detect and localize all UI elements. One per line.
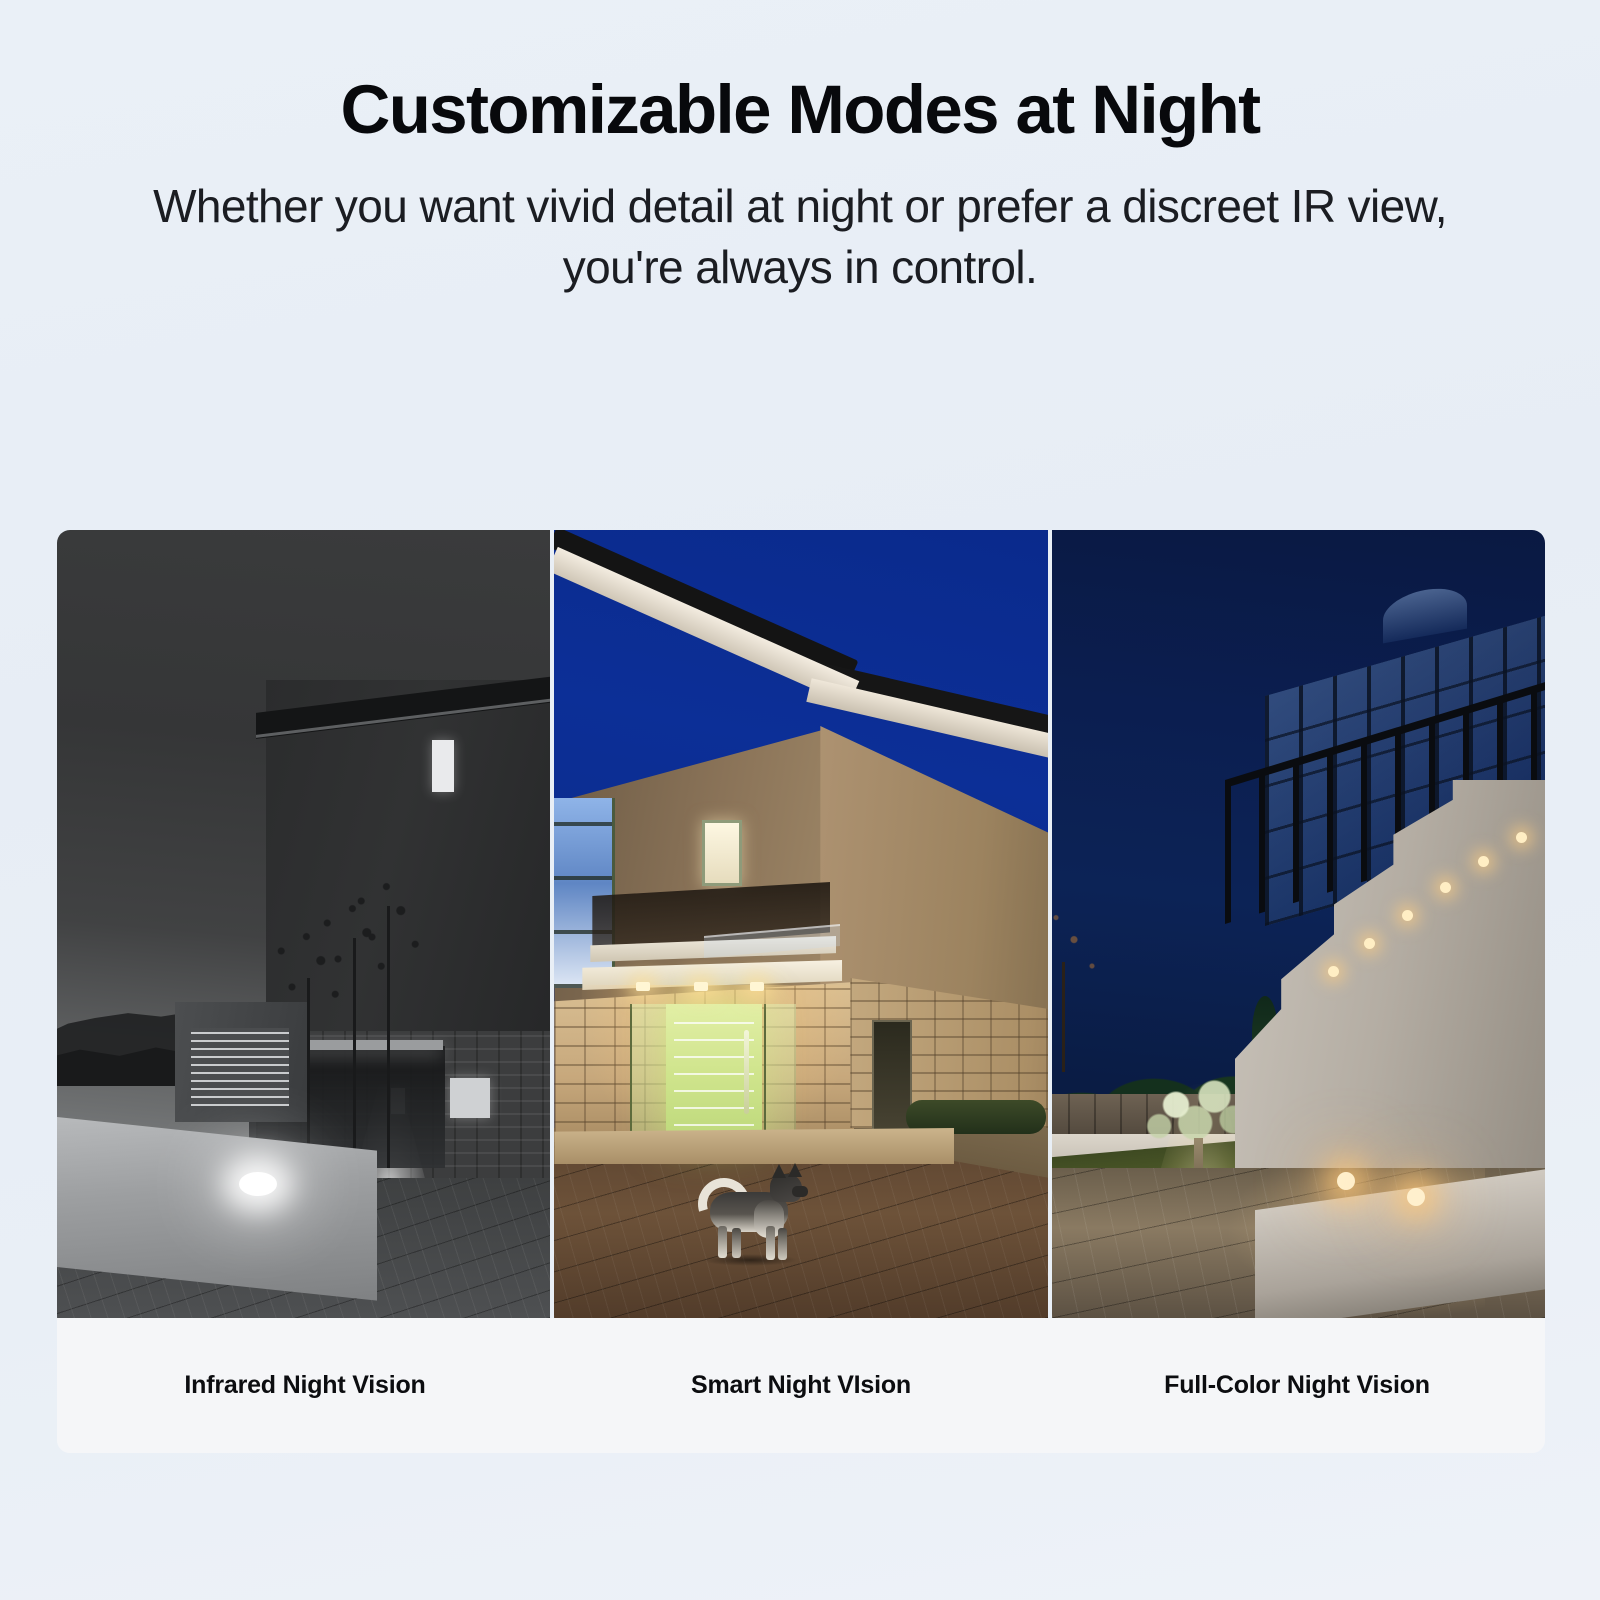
dog-leg bbox=[732, 1228, 741, 1258]
step-light bbox=[1364, 938, 1375, 949]
smart-door-sidelite-right bbox=[764, 1004, 796, 1144]
smart-dog bbox=[696, 1162, 808, 1262]
step-light bbox=[1402, 910, 1413, 921]
caption-infrared-night-vision: Infrared Night Vision bbox=[57, 1318, 553, 1453]
page-subtitle: Whether you want vivid detail at night o… bbox=[135, 176, 1465, 298]
smart-upper-window bbox=[702, 820, 742, 886]
infrared-tree bbox=[307, 978, 310, 1168]
infrared-lower-window bbox=[450, 1078, 490, 1118]
fullcolor-step-lights bbox=[1225, 820, 1545, 1070]
gallery-tiles bbox=[57, 530, 1545, 1318]
infrared-wall-light bbox=[239, 1172, 277, 1196]
step-light bbox=[1516, 832, 1527, 843]
smart-side-window bbox=[872, 1020, 912, 1144]
step-light bbox=[1478, 856, 1489, 867]
smart-downlight bbox=[694, 982, 708, 991]
smart-entry-step bbox=[554, 1128, 954, 1164]
dog-ear bbox=[788, 1163, 802, 1177]
gallery-image-full-color bbox=[1052, 530, 1545, 1318]
fullcolor-wall-light bbox=[1407, 1188, 1425, 1206]
infrared-upper-window bbox=[432, 740, 454, 792]
caption-smart-night-vision: Smart Night VIsion bbox=[553, 1318, 1049, 1453]
fullcolor-wall-light bbox=[1337, 1172, 1355, 1190]
night-vision-gallery-card: Infrared Night Vision Smart Night VIsion… bbox=[57, 530, 1545, 1453]
smart-door-handle bbox=[744, 1030, 749, 1114]
smart-downlight bbox=[750, 982, 764, 991]
gallery-captions: Infrared Night Vision Smart Night VIsion… bbox=[57, 1318, 1545, 1453]
dog-leg bbox=[718, 1226, 727, 1258]
fullcolor-bare-tree bbox=[1062, 962, 1065, 1072]
infrared-louvre-panel bbox=[191, 1028, 289, 1106]
gallery-image-smart bbox=[554, 530, 1047, 1318]
step-light bbox=[1440, 882, 1451, 893]
page-title: Customizable Modes at Night bbox=[40, 74, 1560, 146]
step-light bbox=[1328, 966, 1339, 977]
dog-leg bbox=[778, 1228, 787, 1260]
smart-downlight bbox=[636, 982, 650, 991]
dog-ear bbox=[772, 1164, 786, 1178]
gallery-image-infrared bbox=[57, 530, 550, 1318]
header: Customizable Modes at Night Whether you … bbox=[0, 0, 1600, 298]
dog-leg bbox=[766, 1226, 775, 1260]
dog-snout bbox=[792, 1186, 808, 1197]
smart-door-sidelite-left bbox=[630, 1004, 668, 1144]
caption-full-color-night-vision: Full-Color Night Vision bbox=[1049, 1318, 1545, 1453]
infrared-tree bbox=[387, 906, 390, 1168]
